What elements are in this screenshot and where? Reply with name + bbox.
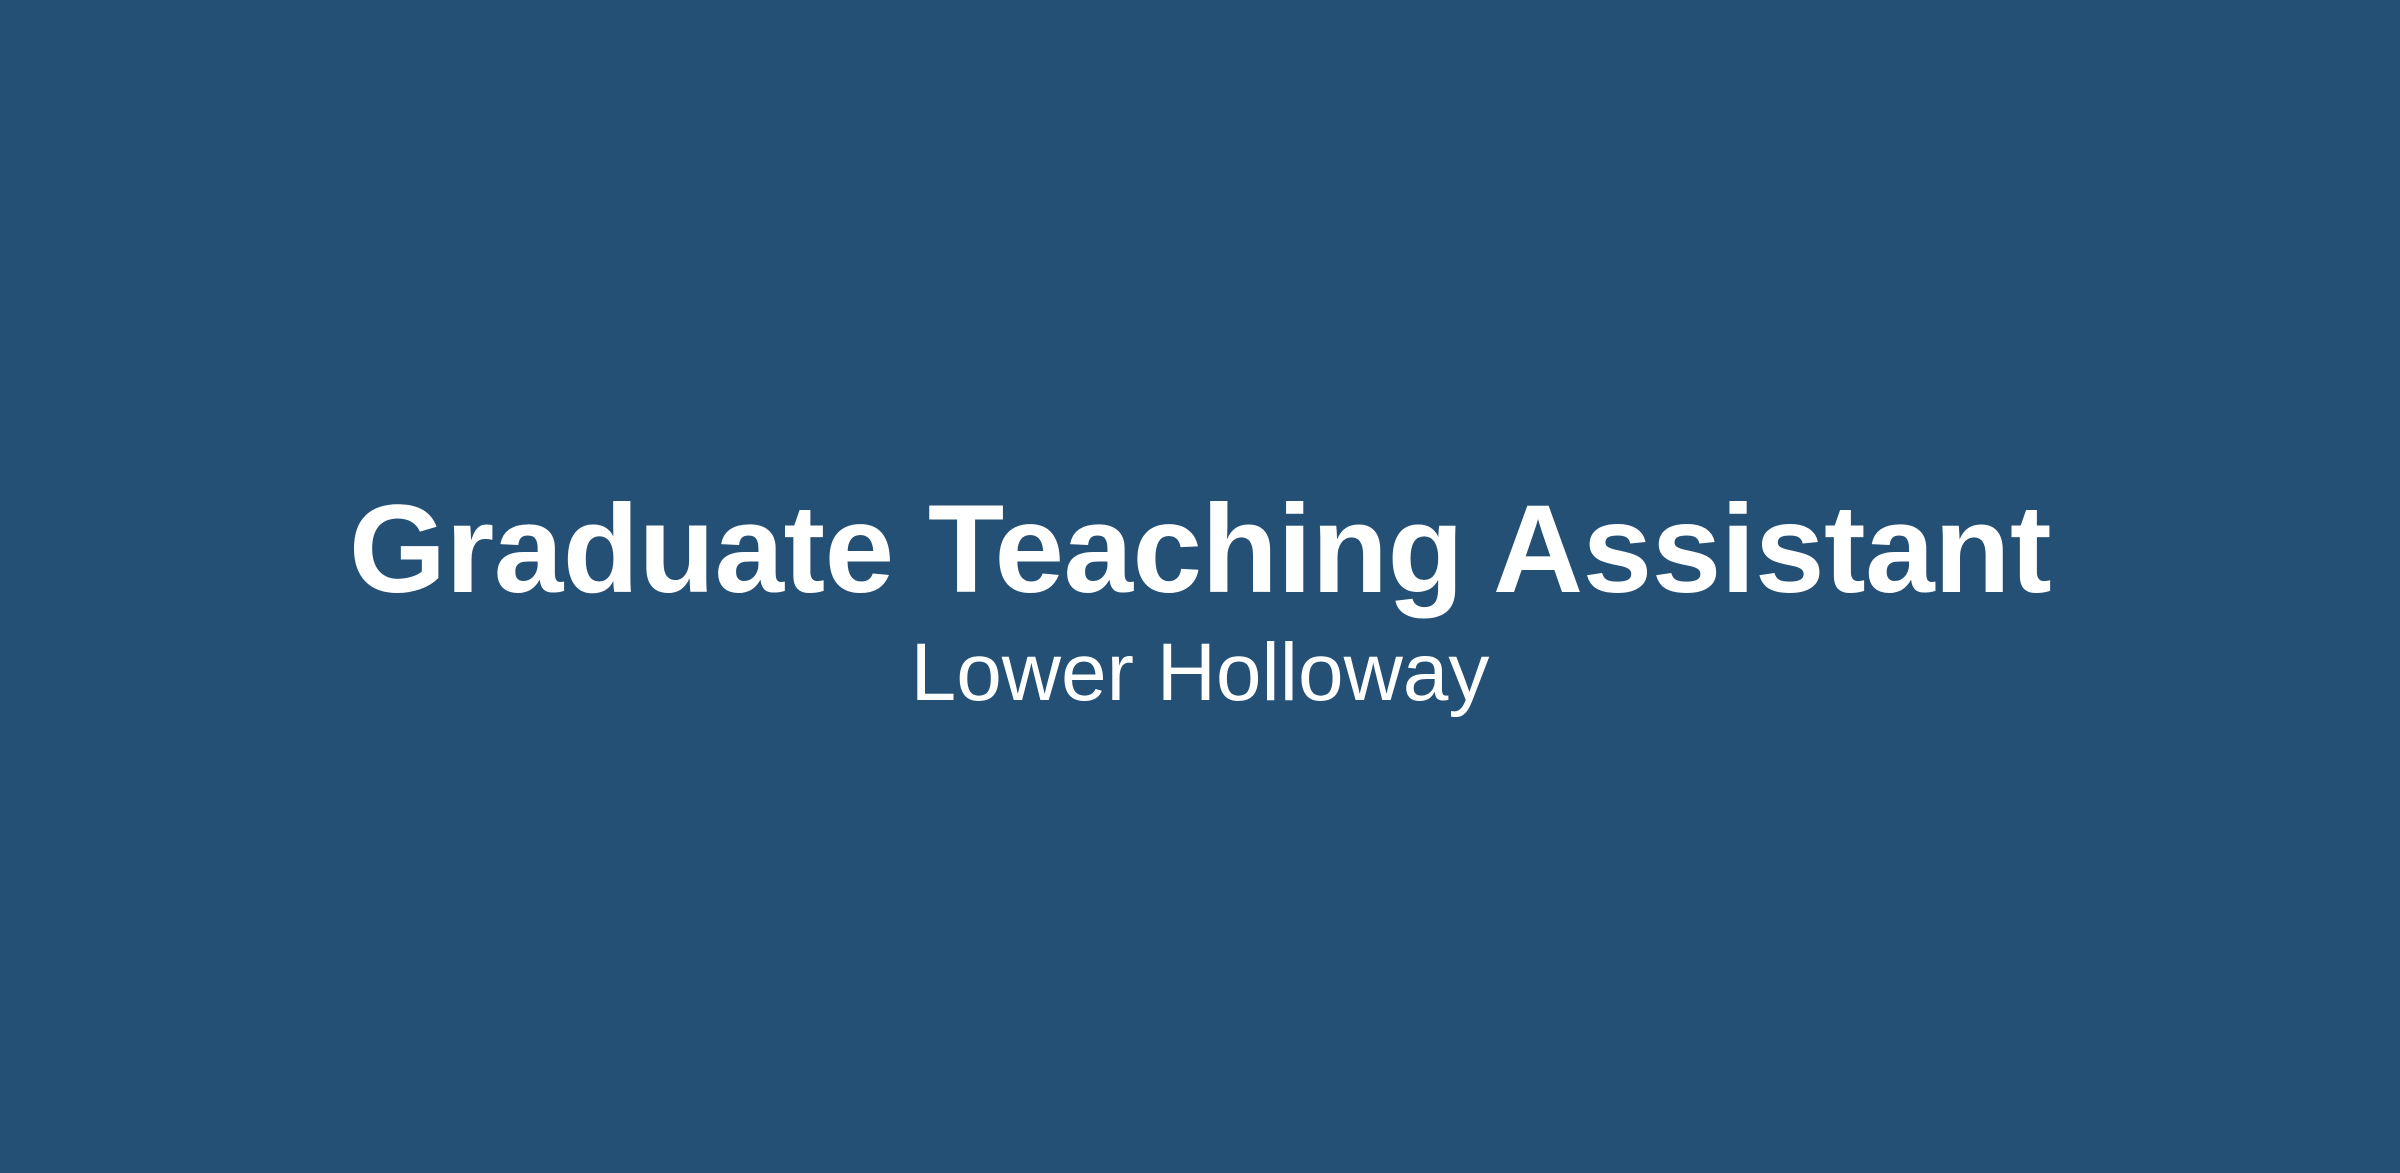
job-header-banner: Graduate Teaching Assistant Lower Hollow…: [0, 0, 2400, 1173]
banner-content: Graduate Teaching Assistant Lower Hollow…: [0, 487, 2400, 714]
page-title: Graduate Teaching Assistant: [0, 487, 2400, 612]
job-location-subtitle: Lower Holloway: [0, 632, 2400, 714]
